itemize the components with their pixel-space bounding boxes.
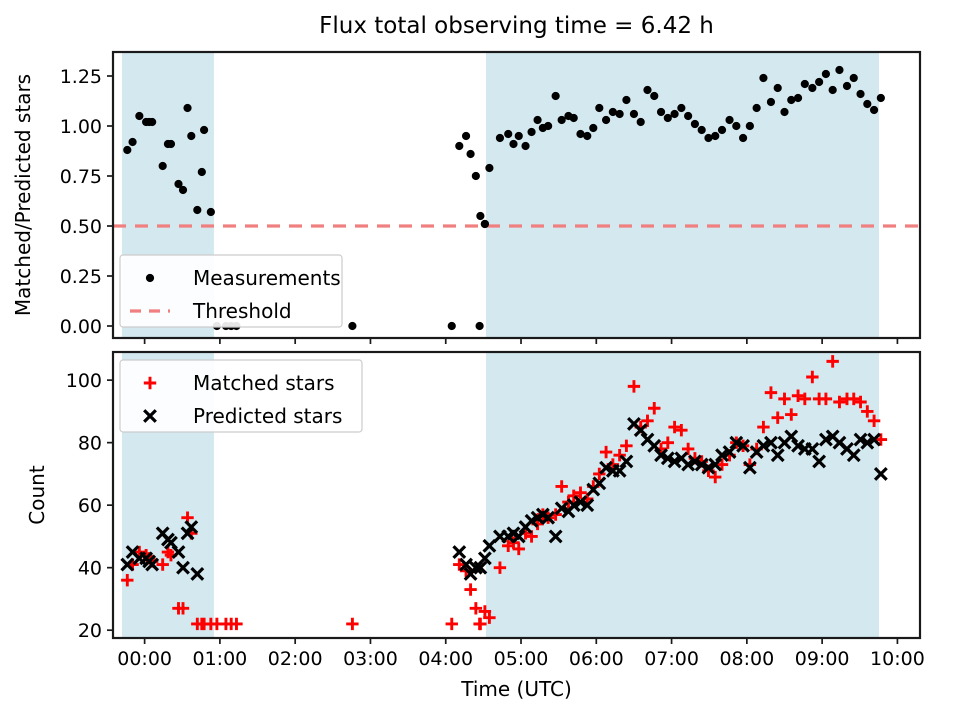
- matched-star-marker: [464, 583, 476, 595]
- measurement-point: [877, 94, 885, 102]
- measurement-point: [123, 146, 131, 154]
- measurement-point: [595, 104, 603, 112]
- measurement-point: [589, 124, 597, 132]
- measurement-point: [616, 110, 624, 118]
- count-ytick-label: 20: [78, 620, 102, 642]
- measurement-point: [725, 116, 733, 124]
- ratio-ytick-label: 1.00: [60, 116, 102, 138]
- xtick-label: 02:00: [268, 648, 323, 670]
- ratio-legend-label: Threshold: [192, 299, 292, 323]
- measurement-point: [544, 122, 552, 130]
- ratio-yaxis: 0.000.250.500.751.001.25Matched/Predicte…: [11, 66, 113, 338]
- measurement-point: [198, 168, 206, 176]
- measurement-point: [739, 134, 747, 142]
- count-ytick-label: 40: [78, 558, 102, 580]
- ratio-axis-label: Matched/Predicted stars: [11, 74, 35, 316]
- measurement-point: [684, 112, 692, 120]
- count-legend-label: Matched stars: [193, 371, 335, 395]
- measurement-point: [801, 80, 809, 88]
- page-title: Flux total observing time = 6.42 h: [319, 13, 714, 39]
- shaded-band-1: [486, 52, 879, 338]
- measurement-point: [711, 132, 719, 140]
- measurement-point: [515, 132, 523, 140]
- measurement-point: [657, 108, 665, 116]
- measurement-point: [448, 322, 456, 330]
- measurement-point: [650, 92, 658, 100]
- measurement-point: [822, 70, 830, 78]
- ratio-legend[interactable]: MeasurementsThreshold: [120, 255, 342, 327]
- measurement-point: [348, 322, 356, 330]
- measurement-point: [466, 150, 474, 158]
- measurement-point: [128, 138, 136, 146]
- measurement-point: [794, 94, 802, 102]
- measurement-point: [863, 100, 871, 108]
- measurement-point: [455, 142, 463, 150]
- xtick-label: 05:00: [494, 648, 549, 670]
- measurement-point: [602, 116, 610, 124]
- xtick-label: 06:00: [569, 648, 624, 670]
- xtick-label: 00:00: [117, 648, 172, 670]
- measurement-point: [718, 126, 726, 134]
- measurement-point: [159, 162, 167, 170]
- xaxis-label: Time (UTC): [460, 677, 572, 701]
- xtick-label: 04:00: [418, 648, 473, 670]
- count-ytick-label: 80: [78, 433, 102, 455]
- ratio-legend-label: Measurements: [193, 266, 341, 290]
- measurement-point: [509, 140, 517, 148]
- ratio-ytick-label: 0.75: [60, 166, 102, 188]
- ratio-ytick-label: 0.25: [60, 266, 102, 288]
- measurement-point: [622, 96, 630, 104]
- measurement-point: [746, 122, 754, 130]
- measurement-point: [496, 134, 504, 142]
- xtick-label: 03:00: [343, 648, 398, 670]
- measurement-point: [583, 132, 591, 140]
- count-ytick-label: 60: [78, 495, 102, 517]
- scatter-plot-figure: Flux total observing time = 6.42 h0.000.…: [0, 0, 960, 720]
- measurement-point: [630, 110, 638, 118]
- measurement-point: [135, 112, 143, 120]
- measurement-point: [759, 74, 767, 82]
- measurement-point: [570, 114, 578, 122]
- count-legend-label: Predicted stars: [193, 404, 342, 428]
- measurement-point: [637, 118, 645, 126]
- measurement-point: [732, 122, 740, 130]
- measurement-point: [200, 126, 208, 134]
- measurement-point: [856, 90, 864, 98]
- count-axis-label: Count: [25, 465, 49, 525]
- matched-star-marker: [346, 618, 358, 630]
- measurement-point: [552, 92, 560, 100]
- measurement-point: [481, 220, 489, 228]
- matched-star-marker: [474, 618, 486, 630]
- predicted-star-marker: [453, 546, 465, 558]
- xtick-label: 07:00: [644, 648, 699, 670]
- measurement-point: [462, 132, 470, 140]
- measurement-point: [753, 104, 761, 112]
- measurement-point: [670, 110, 678, 118]
- measurement-point: [187, 132, 195, 140]
- measurement-point: [183, 104, 191, 112]
- count-ytick-label: 100: [66, 370, 102, 392]
- measurement-point: [504, 130, 512, 138]
- xtick-label: 08:00: [719, 648, 774, 670]
- measurement-point: [527, 128, 535, 136]
- measurement-point: [207, 208, 215, 216]
- count-legend[interactable]: Matched starsPredicted stars: [120, 360, 362, 432]
- measurement-point: [476, 322, 484, 330]
- figure-canvas: Flux total observing time = 6.42 h0.000.…: [0, 0, 960, 720]
- measurement-point: [835, 66, 843, 74]
- measurement-point: [691, 120, 699, 128]
- xtick-label: 01:00: [193, 648, 248, 670]
- measurement-point: [485, 164, 493, 172]
- measurement-point: [179, 186, 187, 194]
- measurement-point: [774, 84, 782, 92]
- measurement-point: [677, 104, 685, 112]
- measurement-point: [815, 78, 823, 86]
- measurement-point: [698, 126, 706, 134]
- legend-dot-icon: [146, 274, 154, 282]
- measurement-point: [850, 74, 858, 82]
- ratio-ytick-label: 0.00: [60, 316, 102, 338]
- measurement-point: [870, 106, 878, 114]
- measurement-point: [521, 142, 529, 150]
- measurement-point: [472, 172, 480, 180]
- measurement-point: [780, 108, 788, 116]
- measurement-point: [643, 86, 651, 94]
- measurement-point: [843, 82, 851, 90]
- measurement-point: [167, 140, 175, 148]
- xtick-label: 09:00: [795, 648, 850, 670]
- measurement-point: [829, 86, 837, 94]
- measurement-point: [808, 84, 816, 92]
- matched-star-marker: [446, 618, 458, 630]
- measurement-point: [767, 98, 775, 106]
- xtick-label: 10:00: [870, 648, 925, 670]
- measurement-point: [533, 116, 541, 124]
- count-yaxis: 20406080100Count: [25, 370, 113, 642]
- measurement-point: [476, 212, 484, 220]
- ratio-ytick-label: 0.50: [60, 216, 102, 238]
- measurement-point: [148, 118, 156, 126]
- ratio-ytick-label: 1.25: [60, 66, 102, 88]
- measurement-point: [193, 206, 201, 214]
